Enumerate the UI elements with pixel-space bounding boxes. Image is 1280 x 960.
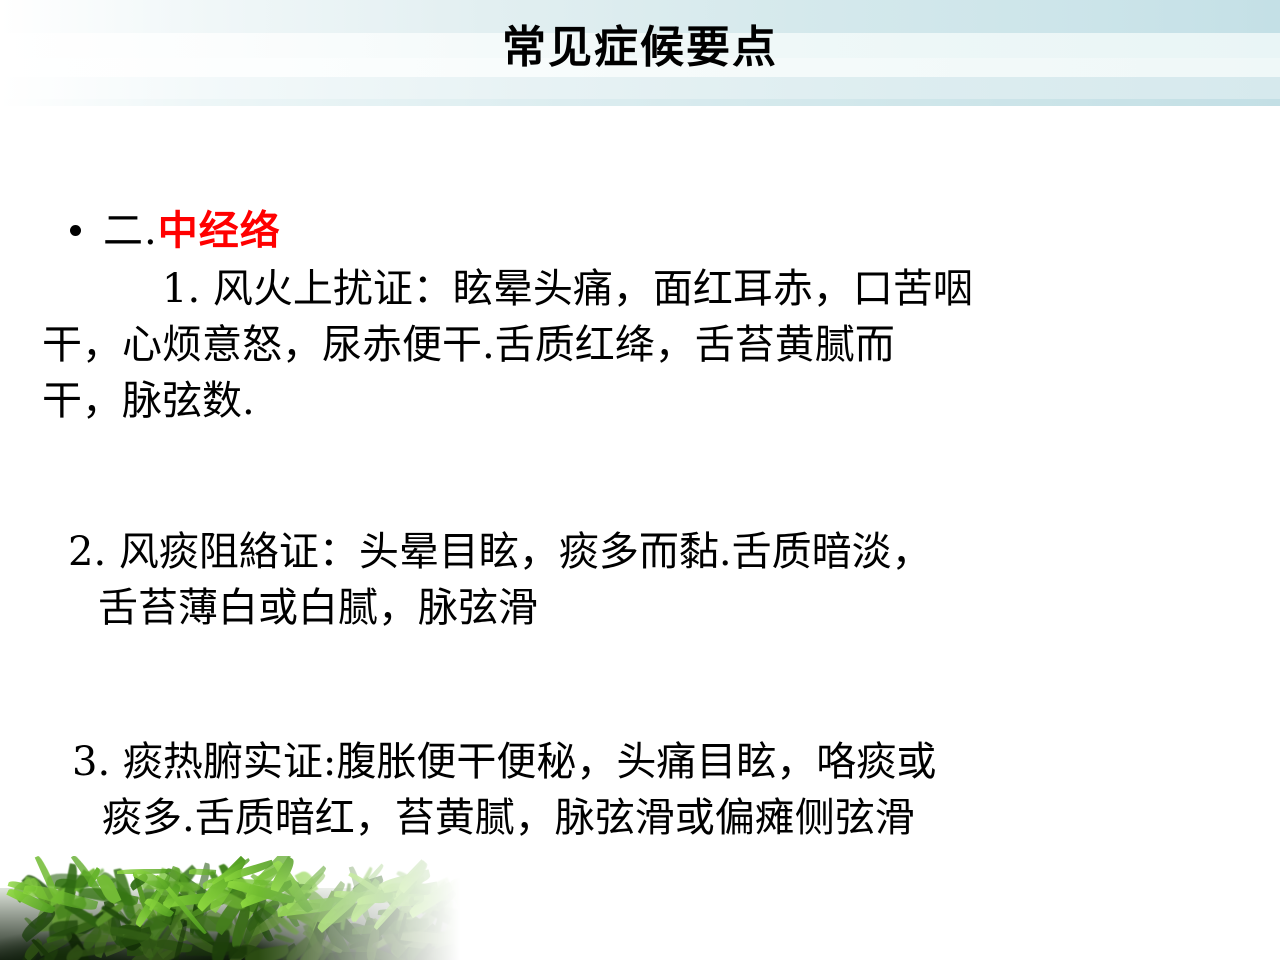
item-1-line-3: 干，脉弦数. [42, 373, 973, 429]
item-1-line-1: 1. 风火上扰证：眩晕头痛，面红耳赤，口苦咽 [42, 261, 973, 317]
list-item: 1. 风火上扰证：眩晕头痛，面红耳赤，口苦咽 干，心烦意怒，尿赤便干.舌质红绛，… [42, 261, 973, 429]
list-item: 3. 痰热腑实证:腹胀便干便秘，头痛目眩，咯痰或 痰多.舌质暗红，苔黄腻，脉弦滑… [72, 734, 936, 846]
item-1-line-2: 干，心烦意怒，尿赤便干.舌质红绛，舌苔黄腻而 [42, 317, 973, 373]
list-item: 2. 风痰阻絡证：头晕目眩，痰多而黏.舌质暗淡， 舌苔薄白或白腻，脉弦滑 [68, 524, 932, 636]
green-tea-leaves-photo [0, 856, 470, 960]
header-band-fourth [0, 77, 1280, 99]
section-heading-row: 二. 中经络 [70, 198, 281, 256]
section-number: 二. [103, 198, 158, 256]
header-band-bottom [0, 99, 1280, 106]
item-3-line-2: 痰多.舌质暗红，苔黄腻，脉弦滑或偏瘫侧弦滑 [72, 790, 936, 846]
bullet-dot-icon [70, 225, 81, 236]
item-3-line-1: 3. 痰热腑实证:腹胀便干便秘，头痛目眩，咯痰或 [72, 734, 936, 790]
slide-body: 二. 中经络 1. 风火上扰证：眩晕头痛，面红耳赤，口苦咽 干，心烦意怒，尿赤便… [0, 106, 1280, 960]
item-2-line-1: 2. 风痰阻絡证：头晕目眩，痰多而黏.舌质暗淡， [68, 524, 932, 580]
item-2-line-2: 舌苔薄白或白腻，脉弦滑 [68, 580, 932, 636]
slide-title: 常见症候要点 [0, 22, 1280, 74]
slide-header-banner: 常见症候要点 [0, 0, 1280, 106]
foliage-fade-overlay [0, 856, 470, 960]
section-heading-label: 中经络 [158, 198, 281, 256]
